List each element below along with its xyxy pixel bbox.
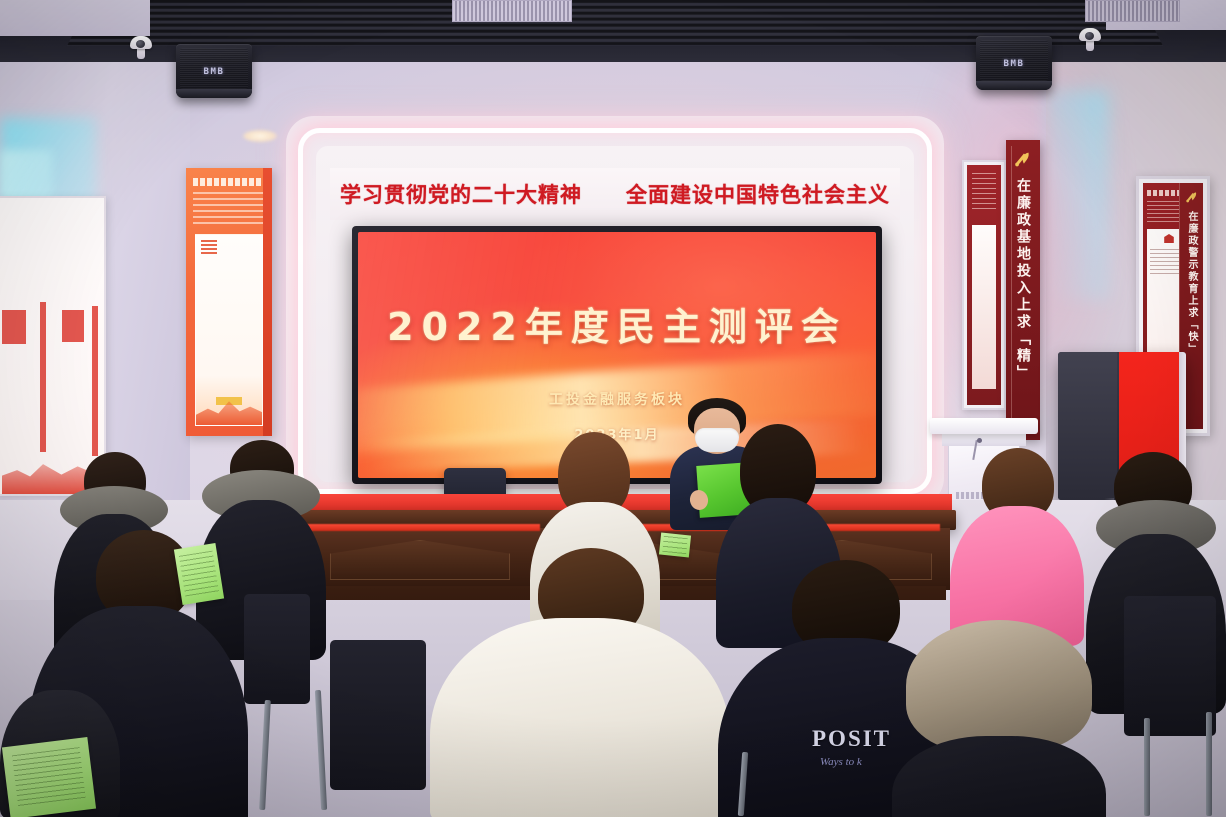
ballot-form [2, 737, 96, 817]
speaker-left: BMB [176, 44, 252, 98]
banner-text-2: 在廉政警示教育上求「快」 [1184, 211, 1199, 355]
ceiling-downlight [243, 130, 277, 142]
slogan-text-right: 全面建设中国特色社会主义 [626, 179, 890, 209]
poster-orange-column [186, 168, 272, 436]
chair [244, 594, 310, 704]
jacket-brand-subtext: Ways to k [820, 756, 862, 768]
chair-leg [1144, 718, 1150, 816]
screen-subtitle: 工投金融服务板块 [358, 389, 876, 409]
poster-partially-hidden [962, 160, 1006, 410]
ballot-form [174, 543, 224, 605]
banner-jizhi-jing: 在廉政基地投入上求「精」 [1006, 140, 1040, 440]
speaker-brand-label-left: BMB [203, 67, 224, 77]
meeting-room-photo: BMB BMB 学习贯彻党的二十大精神 全面建设中国特色社会主义 2022年度民… [0, 0, 1226, 817]
audience-member-knit-hat [892, 620, 1106, 817]
screen-title: 2022年度民主测评会 [358, 296, 876, 351]
audience-member-white-puffer [430, 548, 730, 817]
banner-text-1: 在廉政基地投入上求「精」 [1013, 178, 1033, 382]
speaker-brand-label-right: BMB [1003, 59, 1024, 69]
desk-red-edge-left [300, 524, 540, 531]
poster-headline-band [193, 178, 265, 186]
slogan-text-left: 学习贯彻党的二十大精神 [340, 179, 582, 209]
slogan-banner: 学习贯彻党的二十大精神 全面建设中国特色社会主义 [330, 168, 900, 220]
speaker-right: BMB [976, 36, 1052, 90]
dome-camera-icon [130, 36, 152, 62]
party-emblem-icon [1012, 148, 1034, 170]
chair [330, 640, 426, 790]
audience-member-pink-coat [950, 448, 1084, 638]
ceiling-soffit-left [0, 0, 150, 36]
ceiling-vent-right [1085, 0, 1180, 22]
poster-far-left [0, 196, 106, 496]
jacket-brand-text: POSIT [812, 726, 891, 752]
dome-camera-icon-right [1079, 28, 1101, 54]
chair-leg [1206, 712, 1212, 816]
ballot-form [659, 532, 691, 557]
poster-illustration-card [195, 234, 263, 426]
chair [1124, 596, 1216, 736]
poster-body-lines [193, 192, 265, 226]
party-emblem-icon-2 [1184, 189, 1200, 205]
ceiling-vent [452, 0, 572, 22]
